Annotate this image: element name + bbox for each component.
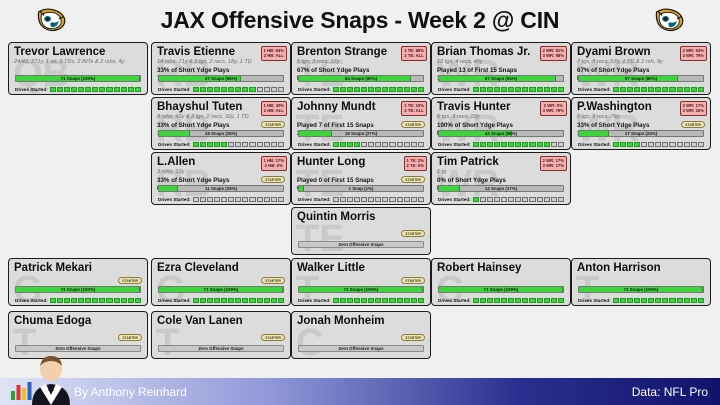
drives-started-label: Drives Started: — [15, 298, 48, 303]
player-card[interactable]: WRP.Washington5 tgs, 5 recs, 76y33% of S… — [571, 97, 711, 150]
drives-started-label: Drives Started: — [298, 87, 331, 92]
starter-badge: STARTER — [401, 230, 425, 237]
drive-pip — [648, 87, 654, 92]
drive-pip — [214, 87, 220, 92]
drive-pip-track — [473, 142, 564, 147]
snap-bar-empty: Zero Offensive Snaps — [158, 345, 284, 352]
player-usage-line: 0% of Short Ydge Plays — [437, 177, 570, 184]
drive-pip — [264, 87, 270, 92]
position-rate-badge: 1 TE: 2%2 TE: 0% — [404, 156, 427, 171]
player-card[interactable]: TCole Van LanenSTARTERZero Offensive Sna… — [151, 311, 291, 359]
starter-badge: STARTER — [401, 121, 425, 128]
drive-pip — [242, 142, 248, 147]
drive-pip — [684, 298, 690, 303]
author-avatar — [22, 355, 80, 405]
drive-pip — [691, 142, 697, 147]
player-card[interactable]: TEQuintin MorrisSTARTERZero Offensive Sn… — [291, 207, 431, 255]
drives-started-row: Drives Started: — [578, 87, 704, 92]
drive-pip-track — [473, 87, 564, 92]
drive-pip — [235, 197, 241, 202]
player-name: Anton Harrison — [577, 262, 710, 274]
drive-pip — [558, 197, 564, 202]
drive-pip — [368, 298, 374, 303]
drive-pip — [397, 142, 403, 147]
starter-badge: STARTER — [401, 277, 425, 284]
drive-pip — [340, 197, 346, 202]
drive-pip — [487, 142, 493, 147]
drive-pip — [418, 142, 424, 147]
player-usage-line: 67% of Short Ydge Plays — [577, 67, 710, 74]
drive-pip — [135, 298, 141, 303]
snap-bar: 1 Snap (1%) — [298, 185, 424, 192]
drive-pip — [257, 298, 263, 303]
position-rate-badge: 1 TE: 88%2 TE: ALL — [401, 46, 427, 61]
drive-pip — [655, 87, 661, 92]
position-rate-badge: 2 WR: 0%3 WR: 79% — [540, 101, 567, 116]
drive-pip — [214, 197, 220, 202]
drives-started-row: Drives Started: — [578, 298, 704, 303]
drive-pip — [235, 87, 241, 92]
snap-bar-label: 47 Snaps (66%) — [159, 76, 283, 81]
position-watermark: C — [296, 324, 323, 359]
drive-pip — [128, 298, 134, 303]
drive-pip — [71, 87, 77, 92]
drive-pip — [242, 298, 248, 303]
snap-bar-label: 17 Snaps (24%) — [579, 131, 703, 136]
snap-bar-label: Zero Offensive Snaps — [299, 242, 423, 247]
page-header: JAX Offensive Snaps - Week 2 @ CIN — [0, 0, 720, 40]
drive-pip — [64, 298, 70, 303]
snap-bar-label: 67 Snaps (94%) — [439, 76, 563, 81]
snap-bar-label: 71 Snaps (100%) — [439, 287, 563, 292]
drive-pip — [404, 197, 410, 202]
player-usage-line: 100% of Short Ydge Plays — [437, 122, 570, 129]
drive-pip — [627, 298, 633, 303]
player-stat-line: 24/42, 271y, 1 sk, 3 TDs, 2 INTs & 2 rsh… — [14, 59, 147, 65]
position-rate-badge: 2 WR: 63%3 WR: 79% — [680, 46, 707, 61]
player-card[interactable]: CRobert Hainsey71 Snaps (100%)Drives Sta… — [431, 258, 571, 306]
drive-pip — [698, 87, 704, 92]
drive-pip — [200, 298, 206, 303]
page-footer: By Anthony Reinhard Data: NFL Pro — [0, 378, 720, 405]
drive-pip — [529, 142, 535, 147]
snap-bar: 18 Snaps (25%) — [158, 130, 284, 137]
snap-bar-label: 71 Snaps (100%) — [159, 287, 283, 292]
drive-pip — [271, 197, 277, 202]
drive-pip — [613, 142, 619, 147]
drive-pip — [278, 142, 284, 147]
drive-pip — [627, 87, 633, 92]
position-rate-badge: 1 TE: 10%2 TE: ALL — [401, 101, 427, 116]
drive-pip — [347, 142, 353, 147]
player-card[interactable]: QBTrevor Lawrence24/42, 271y, 1 sk, 3 TD… — [8, 42, 148, 95]
snap-bar-label: 64 Snaps (90%) — [299, 76, 423, 81]
player-card[interactable]: WRBrian Thomas Jr.12 tgs, 4 recs, 40yPla… — [431, 42, 571, 95]
snap-bar: 71 Snaps (100%) — [298, 286, 424, 293]
drive-pip — [522, 197, 528, 202]
drives-started-label: Drives Started: — [298, 298, 331, 303]
drive-pip — [487, 197, 493, 202]
drive-pip — [551, 298, 557, 303]
drive-pip — [106, 298, 112, 303]
drives-started-row: Drives Started: — [578, 142, 704, 147]
drive-pip — [669, 298, 675, 303]
player-card[interactable]: TEHunter Long Played 0 of First 15 Snaps… — [291, 152, 431, 205]
drives-started-label: Drives Started: — [578, 87, 611, 92]
player-card[interactable]: TEJohnny Mundt Played 7 of First 15 Snap… — [291, 97, 431, 150]
drive-pip — [361, 197, 367, 202]
player-card[interactable]: WRTim Patrick1 tg0% of Short Ydge PlaysP… — [431, 152, 571, 205]
drives-started-row: Drives Started: — [158, 87, 284, 92]
drive-pip — [544, 197, 550, 202]
drive-pip — [50, 87, 56, 92]
drive-pip — [375, 142, 381, 147]
drive-pip — [121, 87, 127, 92]
drive-pip-track — [613, 142, 704, 147]
drive-pip — [200, 197, 206, 202]
drive-pip — [558, 298, 564, 303]
starter-badge: STARTER — [118, 334, 142, 341]
drive-pip — [257, 142, 263, 147]
drive-pip — [333, 197, 339, 202]
snap-bar-label: 11 Snaps (15%) — [159, 186, 283, 191]
drive-pip — [684, 142, 690, 147]
drive-pip — [480, 298, 486, 303]
drive-pip — [544, 142, 550, 147]
drive-pip — [193, 298, 199, 303]
player-card[interactable]: WRDyami Brown7 tgs, 5 recs, 57y, 1 TD & … — [571, 42, 711, 95]
player-card[interactable]: GEzra ClevelandSTARTER71 Snaps (100%)Dri… — [151, 258, 291, 306]
drive-pip — [228, 87, 234, 92]
snap-bar: 71 Snaps (100%) — [15, 286, 141, 293]
drive-pip-track — [193, 142, 284, 147]
drive-pip — [242, 197, 248, 202]
drive-pip — [78, 298, 84, 303]
drive-pip — [114, 87, 120, 92]
drive-pip-track — [613, 298, 704, 303]
drive-pip — [537, 87, 543, 92]
drive-pip — [193, 142, 199, 147]
drive-pip-track — [473, 298, 564, 303]
drive-pip-track — [333, 142, 424, 147]
jaguars-logo-left — [34, 6, 68, 34]
drive-pip — [480, 197, 486, 202]
drive-pip-track — [333, 197, 424, 202]
drive-pip — [389, 298, 395, 303]
drive-pip — [677, 142, 683, 147]
drive-pip — [397, 298, 403, 303]
player-card[interactable]: WRTravis Hunter6 tgs, 3 recs, 22y100% of… — [431, 97, 571, 150]
drive-pip — [655, 142, 661, 147]
drive-pip — [278, 197, 284, 202]
drives-started-label: Drives Started: — [15, 87, 48, 92]
snap-bar-label: 12 Snaps (17%) — [439, 186, 563, 191]
starter-badge: STARTER — [261, 277, 285, 284]
player-card[interactable]: GPatrick MekariSTARTER71 Snaps (100%)Dri… — [8, 258, 148, 306]
jaguars-logo-right — [652, 6, 686, 34]
drive-pip — [235, 142, 241, 147]
snap-bar-label: 71 Snaps (100%) — [16, 76, 140, 81]
drive-pip — [257, 87, 263, 92]
drive-pip — [501, 298, 507, 303]
drive-pip — [473, 298, 479, 303]
drive-pip — [354, 142, 360, 147]
snap-bar-empty: Zero Offensive Snaps — [15, 345, 141, 352]
player-name: Patrick Mekari — [14, 262, 147, 274]
drive-pip — [397, 87, 403, 92]
starter-badge: STARTER — [401, 176, 425, 183]
drive-pip-track — [50, 298, 141, 303]
drive-pip — [494, 87, 500, 92]
drive-pip — [515, 87, 521, 92]
player-card[interactable]: TAnton Harrison71 Snaps (100%)Drives Sta… — [571, 258, 711, 306]
drive-pip — [106, 87, 112, 92]
drive-pip — [494, 197, 500, 202]
snap-bar-empty: Zero Offensive Snaps — [298, 241, 424, 248]
drive-pip — [271, 142, 277, 147]
drive-pip — [78, 87, 84, 92]
player-name: Cole Van Lanen — [157, 315, 290, 327]
drive-pip — [501, 197, 507, 202]
drive-pip — [333, 142, 339, 147]
drive-pip-track — [333, 298, 424, 303]
snap-bar: 64 Snaps (90%) — [298, 75, 424, 82]
drive-pip — [620, 87, 626, 92]
drives-started-row: Drives Started: — [158, 197, 284, 202]
snap-bar-label: 42 Snaps (59%) — [439, 131, 563, 136]
player-card[interactable]: TEBrenton Strange5 tgs, 3 recs, 17y67% o… — [291, 42, 431, 95]
position-watermark: TE — [296, 220, 345, 255]
drives-started-row: Drives Started: — [298, 142, 424, 147]
drive-pip — [242, 87, 248, 92]
drives-started-row: Drives Started: — [438, 197, 564, 202]
drive-pip — [641, 298, 647, 303]
drive-pip — [264, 197, 270, 202]
drive-pip — [529, 87, 535, 92]
drive-pip — [634, 142, 640, 147]
player-card[interactable]: RBTravis Etienne14 rshs, 71y & 3 tgs, 2 … — [151, 42, 291, 95]
position-rate-badge: 1 HB: 17%2 HB: 0% — [261, 156, 287, 171]
drive-pip — [249, 142, 255, 147]
drive-pip — [382, 298, 388, 303]
drives-started-label: Drives Started: — [438, 142, 471, 147]
player-name: Jonah Monheim — [297, 315, 430, 327]
drive-pip — [278, 298, 284, 303]
snap-bar: 71 Snaps (100%) — [158, 286, 284, 293]
drive-pip — [389, 87, 395, 92]
drives-started-row: Drives Started: — [298, 298, 424, 303]
snap-bar: 11 Snaps (15%) — [158, 185, 284, 192]
drive-pip — [537, 298, 543, 303]
drives-started-row: Drives Started: — [15, 87, 141, 92]
drive-pip — [404, 298, 410, 303]
drive-pip — [368, 87, 374, 92]
drives-started-label: Drives Started: — [578, 142, 611, 147]
drive-pip — [214, 298, 220, 303]
drive-pip — [347, 197, 353, 202]
drive-pip — [361, 298, 367, 303]
drive-pip — [487, 87, 493, 92]
snap-bar-label: 18 Snaps (25%) — [159, 131, 283, 136]
player-card[interactable]: RBL.Allen2 rshs, 13y33% of Short Ydge Pl… — [151, 152, 291, 205]
drive-pip — [361, 87, 367, 92]
drive-pip — [57, 87, 63, 92]
drives-started-label: Drives Started: — [158, 298, 191, 303]
drive-pip — [494, 142, 500, 147]
drive-pip — [515, 197, 521, 202]
snap-bar: 12 Snaps (17%) — [438, 185, 564, 192]
player-card[interactable]: TChuma EdogaSTARTERZero Offensive Snaps — [8, 311, 148, 359]
drive-pip — [207, 298, 213, 303]
drive-pip — [508, 298, 514, 303]
drives-started-label: Drives Started: — [438, 87, 471, 92]
drive-pip — [135, 87, 141, 92]
drive-pip-track — [193, 298, 284, 303]
drive-pip — [655, 298, 661, 303]
drive-pip — [347, 87, 353, 92]
snap-bar: 57 Snaps (80%) — [578, 75, 704, 82]
drive-pip — [397, 197, 403, 202]
drive-pip — [193, 87, 199, 92]
drive-pip — [698, 298, 704, 303]
drive-pip — [641, 142, 647, 147]
drive-pip — [691, 87, 697, 92]
snap-bar: 71 Snaps (100%) — [578, 286, 704, 293]
drive-pip — [249, 298, 255, 303]
drive-pip — [473, 197, 479, 202]
author-byline: By Anthony Reinhard — [74, 385, 187, 399]
drive-pip — [221, 197, 227, 202]
data-source-label: Data: NFL Pro — [632, 385, 708, 399]
drive-pip — [382, 197, 388, 202]
snap-bar: 67 Snaps (94%) — [438, 75, 564, 82]
player-usage-line: 33% of Short Ydge Plays — [157, 67, 290, 74]
drive-pip — [418, 298, 424, 303]
drives-started-row: Drives Started: — [438, 298, 564, 303]
drive-pip — [389, 197, 395, 202]
snap-bar: 17 Snaps (24%) — [578, 130, 704, 137]
player-card[interactable]: TWalker LittleSTARTER71 Snaps (100%)Driv… — [291, 258, 431, 306]
drive-pip — [228, 298, 234, 303]
drive-pip — [515, 298, 521, 303]
drive-pip — [537, 197, 543, 202]
drives-started-row: Drives Started: — [438, 87, 564, 92]
drives-started-label: Drives Started: — [158, 142, 191, 147]
drive-pip — [669, 142, 675, 147]
drive-pip — [522, 87, 528, 92]
player-card[interactable]: RBBhayshul Tuten8 rshs, 42y & 2 tgs, 2 r… — [151, 97, 291, 150]
drive-pip — [340, 87, 346, 92]
drive-pip — [544, 298, 550, 303]
player-name: Chuma Edoga — [14, 315, 147, 327]
drive-pip — [333, 298, 339, 303]
drive-pip-track — [193, 197, 284, 202]
position-rate-badge: 2 WR: 17%3 WR: 17% — [540, 156, 567, 171]
drive-pip — [691, 298, 697, 303]
drive-pip — [57, 298, 63, 303]
drive-pip — [551, 197, 557, 202]
snap-bar-label: 71 Snaps (100%) — [579, 287, 703, 292]
drive-pip — [480, 142, 486, 147]
drive-pip — [128, 87, 134, 92]
drive-pip — [508, 87, 514, 92]
drive-pip — [375, 298, 381, 303]
drive-pip — [85, 87, 91, 92]
snap-bar-label: 1 Snap (1%) — [299, 186, 423, 191]
drive-pip — [620, 298, 626, 303]
drive-pip — [207, 142, 213, 147]
snap-bar-label: Zero Offensive Snaps — [299, 346, 423, 351]
snap-bar-label: 19 Snaps (27%) — [299, 131, 423, 136]
drive-pip — [228, 197, 234, 202]
drive-pip — [271, 87, 277, 92]
snap-bar: 19 Snaps (27%) — [298, 130, 424, 137]
snap-bar: 47 Snaps (66%) — [158, 75, 284, 82]
snap-bar-label: Zero Offensive Snaps — [159, 346, 283, 351]
player-name: Ezra Cleveland — [157, 262, 290, 274]
drive-pip — [354, 197, 360, 202]
drive-pip — [375, 197, 381, 202]
drive-pip — [522, 142, 528, 147]
drive-pip — [92, 87, 98, 92]
drive-pip — [634, 298, 640, 303]
drive-pip-track — [193, 87, 284, 92]
drive-pip — [537, 142, 543, 147]
drive-pip — [71, 298, 77, 303]
snap-bar-label: 71 Snaps (100%) — [16, 287, 140, 292]
drive-pip — [85, 298, 91, 303]
snap-bar-empty: Zero Offensive Snaps — [298, 345, 424, 352]
drives-started-label: Drives Started: — [158, 87, 191, 92]
drives-started-label: Drives Started: — [298, 197, 331, 202]
drives-started-label: Drives Started: — [438, 197, 471, 202]
page-title: JAX Offensive Snaps - Week 2 @ CIN — [161, 7, 560, 34]
drives-started-row: Drives Started: — [158, 298, 284, 303]
drives-started-label: Drives Started: — [298, 142, 331, 147]
drive-pip — [228, 142, 234, 147]
drive-pip — [558, 142, 564, 147]
drive-pip — [473, 142, 479, 147]
drive-pip — [99, 298, 105, 303]
drive-pip — [558, 87, 564, 92]
drives-started-row: Drives Started: — [298, 87, 424, 92]
drive-pip — [529, 197, 535, 202]
drive-pip — [121, 298, 127, 303]
player-card[interactable]: CJonah MonheimSTARTERZero Offensive Snap… — [291, 311, 431, 359]
drive-pip — [368, 142, 374, 147]
drives-started-row: Drives Started: — [438, 142, 564, 147]
drive-pip — [354, 87, 360, 92]
snap-bar-label: 71 Snaps (100%) — [299, 287, 423, 292]
drive-pip — [698, 142, 704, 147]
drive-pip — [677, 87, 683, 92]
drive-pip — [193, 197, 199, 202]
drive-pip — [382, 87, 388, 92]
drive-pip — [340, 298, 346, 303]
drive-pip — [494, 298, 500, 303]
drive-pip — [551, 87, 557, 92]
drive-pip — [662, 87, 668, 92]
drives-started-label: Drives Started: — [158, 197, 191, 202]
drive-pip — [662, 298, 668, 303]
drive-pip — [501, 87, 507, 92]
drive-pip — [627, 142, 633, 147]
starter-badge: STARTER — [401, 334, 425, 341]
snap-bar: 71 Snaps (100%) — [15, 75, 141, 82]
drive-pip — [487, 298, 493, 303]
position-watermark: T — [156, 324, 179, 359]
drive-pip — [264, 142, 270, 147]
